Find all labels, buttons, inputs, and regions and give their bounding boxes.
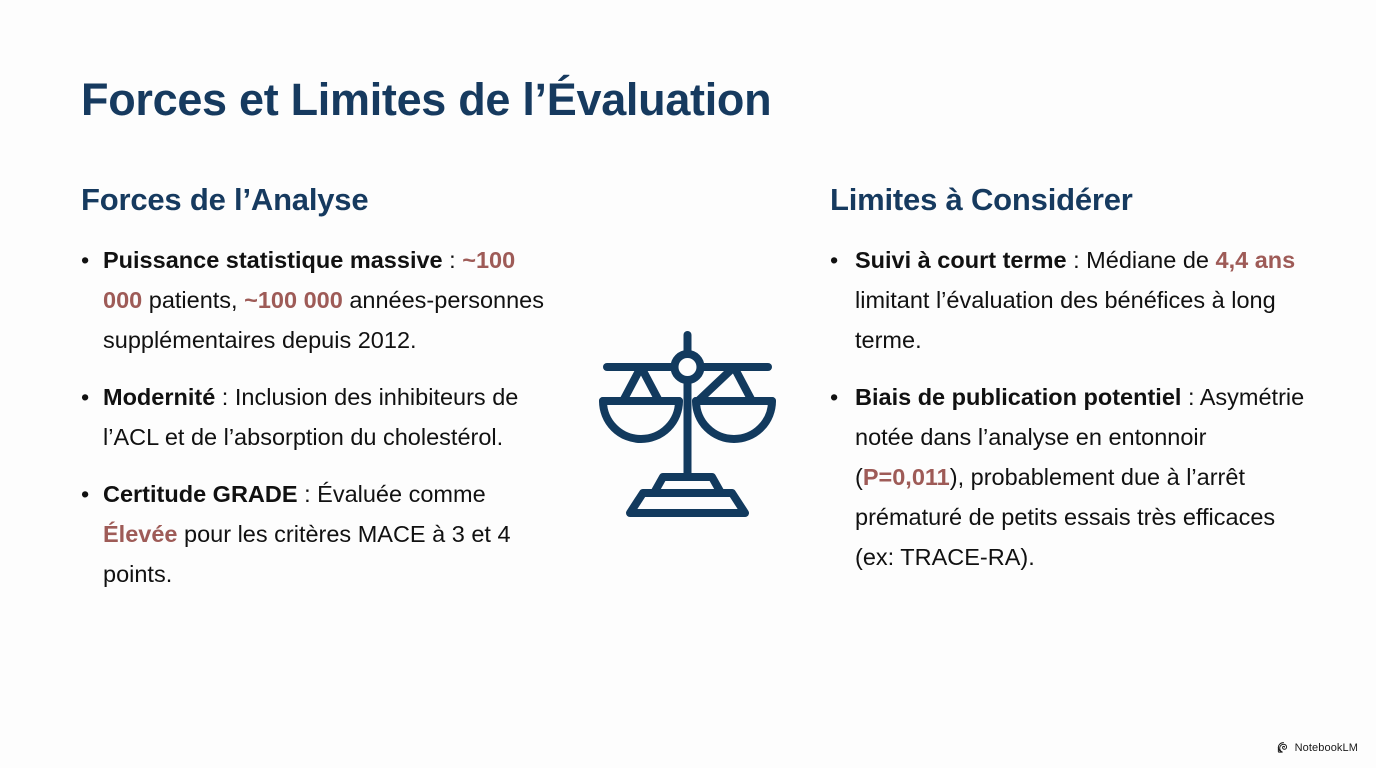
balance-scales-icon — [585, 325, 790, 525]
list-item: • Modernité : Inclusion des inhibiteurs … — [81, 377, 551, 457]
bullet-separator: : — [1067, 247, 1087, 273]
scale-foot — [630, 493, 745, 513]
bullet-separator: : — [215, 384, 235, 410]
right-column-heading: Limites à Considérer — [830, 182, 1320, 218]
left-column: Forces de l’Analyse • Puissance statisti… — [81, 182, 551, 594]
right-bullet-list: • Suivi à court terme : Médiane de 4,4 a… — [830, 240, 1320, 577]
left-column-heading: Forces de l’Analyse — [81, 182, 551, 218]
scale-left-bowl — [603, 401, 679, 439]
slide-root: Forces et Limites de l’Évaluation Forces… — [0, 0, 1376, 768]
bullet-separator: : — [1181, 384, 1199, 410]
bullet-accent: Élevée — [103, 521, 177, 547]
bullet-lead: Certitude GRADE — [103, 481, 298, 507]
bullet-lead: Modernité — [103, 384, 215, 410]
bullet-marker: • — [830, 240, 838, 280]
right-column: Limites à Considérer • Suivi à court ter… — [830, 182, 1320, 577]
page-title: Forces et Limites de l’Évaluation — [81, 74, 771, 126]
list-item: • Suivi à court terme : Médiane de 4,4 a… — [830, 240, 1320, 360]
left-bullet-list: • Puissance statistique massive : ~100 0… — [81, 240, 551, 594]
scale-left-cords — [623, 367, 659, 401]
bullet-mid: Évaluée comme — [317, 481, 486, 507]
scale-right-bowl — [696, 401, 772, 439]
list-item: • Certitude GRADE : Évaluée comme Élevée… — [81, 474, 551, 594]
bullet-separator: : — [443, 247, 463, 273]
bullet-lead: Suivi à court terme — [855, 247, 1067, 273]
bullet-marker: • — [81, 377, 89, 417]
notebooklm-watermark: NotebookLM — [1277, 741, 1358, 754]
bullet-mid: patients, — [142, 287, 244, 313]
bullet-lead: Puissance statistique massive — [103, 247, 443, 273]
balance-scales-svg — [585, 325, 790, 525]
bullet-marker: • — [81, 240, 89, 280]
bullet-lead: Biais de publication potentiel — [855, 384, 1181, 410]
bullet-accent: ~100 000 — [244, 287, 343, 313]
bullet-marker: • — [830, 377, 838, 417]
notebooklm-spiral-icon — [1277, 741, 1290, 754]
notebooklm-watermark-label: NotebookLM — [1295, 742, 1358, 754]
list-item: • Biais de publication potentiel : Asymé… — [830, 377, 1320, 577]
bullet-marker: • — [81, 474, 89, 514]
bullet-accent: 4,4 ans — [1216, 247, 1296, 273]
bullet-separator: : — [298, 481, 318, 507]
list-item: • Puissance statistique massive : ~100 0… — [81, 240, 551, 360]
bullet-tail: limitant l’évaluation des bénéfices à lo… — [855, 287, 1276, 353]
bullet-accent: P=0,011 — [863, 464, 950, 490]
scale-right-cords — [698, 367, 752, 401]
bullet-mid: Médiane de — [1086, 247, 1215, 273]
